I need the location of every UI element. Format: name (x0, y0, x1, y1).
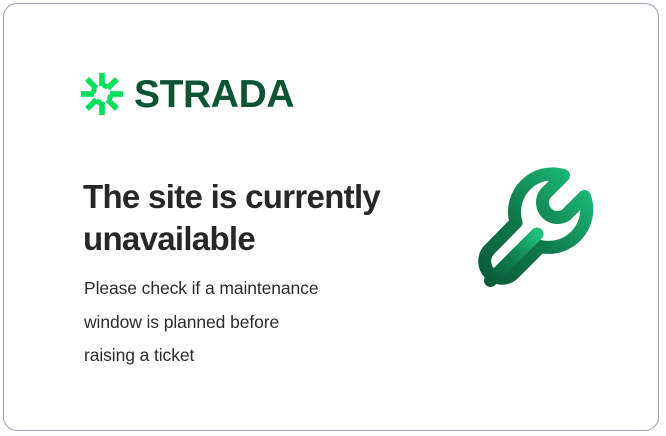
description-line-3: raising a ticket (84, 339, 404, 373)
error-page: STRADA The site is currently unavailable… (0, 0, 666, 436)
wrench-icon (462, 156, 614, 312)
description-line-2: window is planned before (84, 306, 404, 340)
page-description: Please check if a maintenance window is … (84, 272, 404, 373)
page-title: The site is currently unavailable (83, 176, 413, 259)
brand-logo: STRADA (80, 72, 294, 116)
description-line-1: Please check if a maintenance (84, 272, 404, 306)
brand-wordmark: STRADA (134, 75, 294, 114)
strada-asterisk-logo-mark-icon (80, 72, 124, 116)
status-card: STRADA The site is currently unavailable… (3, 3, 659, 431)
